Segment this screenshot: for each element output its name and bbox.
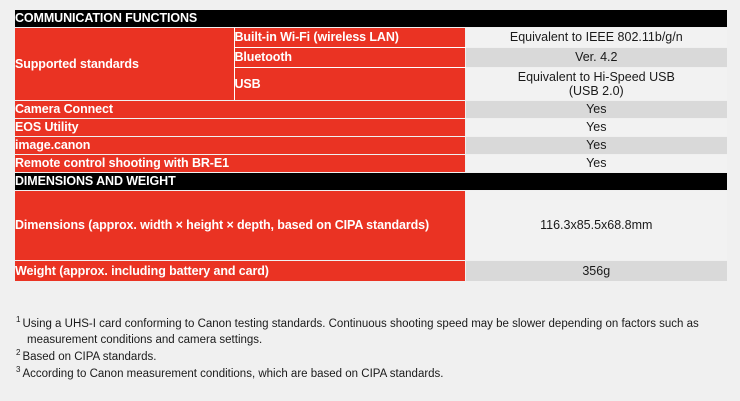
row-label-dimensions: Dimensions (approx. width × height × dep… xyxy=(15,191,465,261)
row-value-camera-connect: Yes xyxy=(465,101,727,119)
usb-value-line-2: (USB 2.0) xyxy=(466,84,728,98)
footnote-text-1: Using a UHS-I card conforming to Canon t… xyxy=(22,318,698,346)
row-label-remote-control-shooting: Remote control shooting with BR-E1 xyxy=(15,155,465,173)
section-title-dimensions-and-weight: DIMENSIONS AND WEIGHT xyxy=(15,173,727,191)
row-label-eos-utility: EOS Utility xyxy=(15,119,465,137)
sub-row-value-bluetooth: Ver. 4.2 xyxy=(465,48,727,68)
row-label-image-canon: image.canon xyxy=(15,137,465,155)
table-row: Supported standards Built-in Wi-Fi (wire… xyxy=(15,28,727,48)
specifications-table: COMMUNICATION FUNCTIONS Supported standa… xyxy=(15,10,727,282)
sub-row-value-usb: Equivalent to Hi-Speed USB (USB 2.0) xyxy=(465,68,727,101)
row-label-weight: Weight (approx. including battery and ca… xyxy=(15,261,465,282)
sub-row-label-usb: USB xyxy=(234,68,465,101)
footnotes-block: 1Using a UHS-I card conforming to Canon … xyxy=(16,316,716,383)
row-label-camera-connect: Camera Connect xyxy=(15,101,465,119)
section-header-row: DIMENSIONS AND WEIGHT xyxy=(15,173,727,191)
footnote-text-3: According to Canon measurement condition… xyxy=(22,368,443,380)
footnote-text-2: Based on CIPA standards. xyxy=(22,351,156,363)
section-title-communication-functions: COMMUNICATION FUNCTIONS xyxy=(15,10,727,28)
sub-row-label-bluetooth: Bluetooth xyxy=(234,48,465,68)
footnote-2: 2Based on CIPA standards. xyxy=(16,349,716,365)
row-value-eos-utility: Yes xyxy=(465,119,727,137)
sub-row-value-built-in-wifi: Equivalent to IEEE 802.11b/g/n xyxy=(465,28,727,48)
row-value-remote-control-shooting: Yes xyxy=(465,155,727,173)
row-value-weight: 356g xyxy=(465,261,727,282)
table-row: image.canon Yes xyxy=(15,137,727,155)
row-value-image-canon: Yes xyxy=(465,137,727,155)
table-row: Remote control shooting with BR-E1 Yes xyxy=(15,155,727,173)
footnote-3: 3According to Canon measurement conditio… xyxy=(16,366,716,382)
row-label-supported-standards: Supported standards xyxy=(15,28,234,101)
footnote-1: 1Using a UHS-I card conforming to Canon … xyxy=(16,316,716,348)
table-row: Dimensions (approx. width × height × dep… xyxy=(15,191,727,261)
table-row: Camera Connect Yes xyxy=(15,101,727,119)
spec-sheet-page: COMMUNICATION FUNCTIONS Supported standa… xyxy=(0,0,740,401)
row-value-dimensions: 116.3x85.5x68.8mm xyxy=(465,191,727,261)
section-header-row: COMMUNICATION FUNCTIONS xyxy=(15,10,727,28)
sub-row-label-built-in-wifi: Built-in Wi-Fi (wireless LAN) xyxy=(234,28,465,48)
table-row: Weight (approx. including battery and ca… xyxy=(15,261,727,282)
usb-value-line-1: Equivalent to Hi-Speed USB xyxy=(466,70,728,84)
table-row: EOS Utility Yes xyxy=(15,119,727,137)
